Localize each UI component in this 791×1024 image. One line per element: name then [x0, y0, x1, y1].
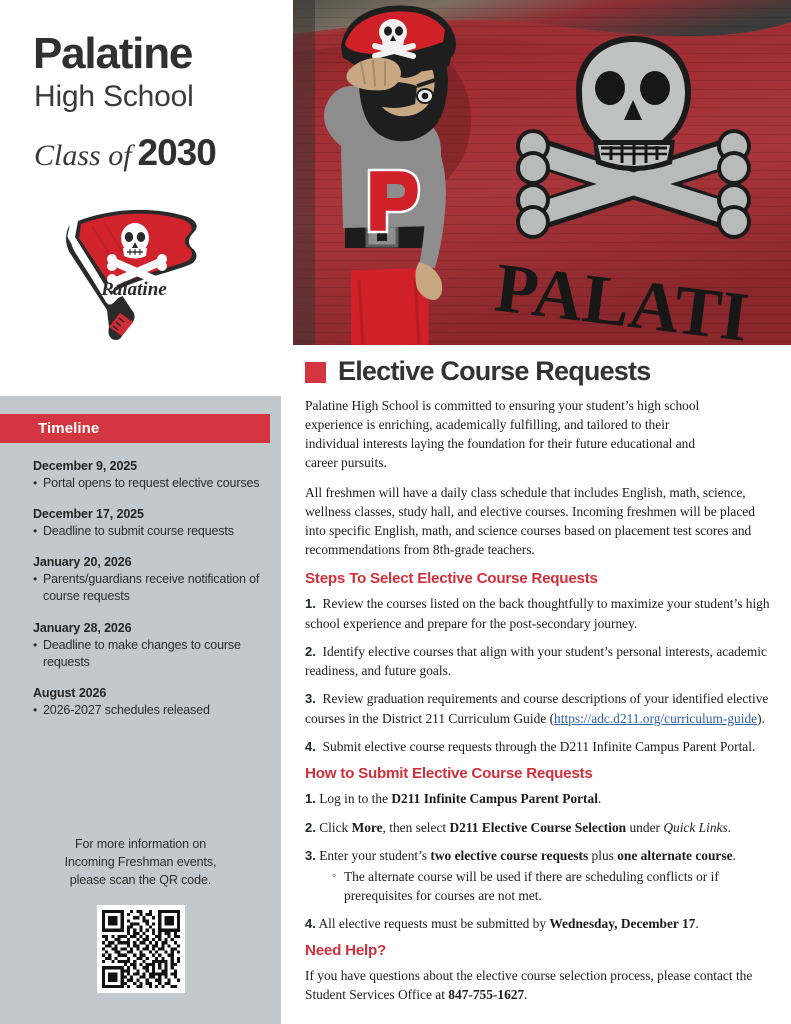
step-text-end: .: [695, 916, 698, 931]
help-phone-number: 847-755-1627: [448, 987, 524, 1002]
sublist-item: The alternate course will be used if the…: [332, 867, 775, 905]
left-column: Palatine High School Class of2030: [0, 0, 282, 1024]
step-text: Log in to the: [319, 791, 391, 806]
pirate-flag-skull-crossbones-icon: Palatine: [52, 196, 232, 356]
step-number: 2.: [305, 820, 316, 835]
timeline-bullet: Portal opens to request elective courses: [33, 475, 273, 492]
step-emphasis-deadline: Wednesday, December 17: [549, 916, 695, 931]
step-text: Review the courses listed on the back th…: [305, 596, 770, 630]
timeline-bullet-list: Parents/guardians receive notification o…: [33, 571, 273, 606]
timeline-entry: August 2026 2026-2027 schedules released: [33, 685, 273, 719]
timeline-date: December 17, 2025: [33, 506, 273, 523]
step-number: 4.: [305, 739, 316, 754]
class-of-label: Class of: [34, 139, 132, 172]
pirate-mascot-photo: PALATI: [293, 0, 791, 345]
submit-step-3: 3. Enter your student’s two elective cou…: [305, 846, 775, 865]
timeline-entry: December 9, 2025 Portal opens to request…: [33, 458, 273, 492]
skull-icon: [121, 223, 149, 259]
step-text-under: under: [626, 820, 663, 835]
step-item: 3. Review graduation requirements and co…: [305, 689, 775, 727]
qr-caption-line-3: please scan the QR code.: [0, 872, 281, 890]
intro-paragraph-2: All freshmen will have a daily class sch…: [305, 483, 775, 559]
school-subtitle: High School: [34, 82, 282, 112]
flyer-page: Palatine High School Class of2030: [0, 0, 791, 1024]
red-square-bullet-icon: [305, 362, 326, 383]
step-item: 1. Review the courses listed on the back…: [305, 594, 775, 632]
step-number: 3.: [305, 848, 316, 863]
step-text-end: .: [598, 791, 601, 806]
timeline-bullet: Deadline to make changes to course reque…: [33, 637, 273, 672]
step-text-mid: , then select: [383, 820, 450, 835]
step-emphasis-alternate: one alternate course: [617, 848, 732, 863]
timeline-header-bar: Timeline: [0, 414, 270, 443]
step-emphasis-more: More: [352, 820, 383, 835]
step-text-plus: plus: [588, 848, 617, 863]
step-emphasis-selection: D211 Elective Course Selection: [449, 820, 626, 835]
intro-paragraph-1: Palatine High School is committed to ens…: [305, 396, 775, 472]
timeline-date: August 2026: [33, 685, 273, 702]
step-text-after: ).: [757, 711, 765, 726]
submit-step-2: 2. Click More, then select D211 Elective…: [305, 818, 775, 837]
timeline-entry: January 28, 2026 Deadline to make change…: [33, 620, 273, 671]
step-text: All elective requests must be submitted …: [318, 916, 549, 931]
school-name: Palatine: [33, 32, 282, 76]
help-text: If you have questions about the elective…: [305, 968, 752, 1002]
main-title-row: Elective Course Requests: [305, 358, 775, 385]
qr-block: For more information on Incoming Freshma…: [0, 836, 281, 993]
submit-step-3-sublist: The alternate course will be used if the…: [305, 867, 775, 905]
timeline-bullet: Deadline to submit course requests: [33, 523, 273, 540]
step-item: 4. Submit elective course requests throu…: [305, 737, 775, 756]
step-text: Enter your student’s: [319, 848, 430, 863]
steps-heading: Steps To Select Elective Course Requests: [305, 570, 775, 587]
class-year: 2030: [138, 132, 216, 173]
submit-step-4: 4. All elective requests must be submitt…: [305, 914, 775, 933]
pirate-flag-logo: Palatine: [52, 196, 232, 356]
right-column: PALATI: [293, 0, 791, 1024]
step-text: Identify elective courses that align wit…: [305, 644, 767, 678]
step-number: 3.: [305, 691, 316, 706]
timeline-bullet-list: Deadline to submit course requests: [33, 523, 273, 540]
curriculum-guide-link[interactable]: https://adc.d211.org/curriculum-guide: [554, 711, 757, 726]
timeline-date: January 20, 2026: [33, 554, 273, 571]
submit-heading: How to Submit Elective Course Requests: [305, 765, 775, 782]
timeline-heading: Timeline: [38, 414, 270, 443]
timeline-entry: January 20, 2026 Parents/guardians recei…: [33, 554, 273, 605]
timeline-date: December 9, 2025: [33, 458, 273, 475]
timeline-list: December 9, 2025 Portal opens to request…: [33, 458, 273, 733]
help-text-end: .: [524, 987, 527, 1002]
masthead: Palatine High School Class of2030: [0, 0, 282, 171]
timeline-bullet-list: 2026-2027 schedules released: [33, 702, 273, 719]
step-number: 2.: [305, 644, 316, 659]
timeline-entry: December 17, 2025 Deadline to submit cou…: [33, 506, 273, 540]
step-text-end: .: [728, 820, 731, 835]
class-of-line: Class of2030: [34, 134, 282, 171]
timeline-bullet-list: Deadline to make changes to course reque…: [33, 637, 273, 672]
main-content: Elective Course Requests Palatine High S…: [305, 358, 775, 1015]
qr-code-icon[interactable]: [97, 905, 185, 993]
step-item: 2. Identify elective courses that align …: [305, 642, 775, 680]
step-text: Click: [319, 820, 351, 835]
step-emphasis: D211 Infinite Campus Parent Portal: [391, 791, 598, 806]
qr-caption-line-1: For more information on: [0, 836, 281, 854]
step-number: 1.: [305, 791, 316, 806]
step-text: Submit elective course requests through …: [323, 739, 756, 754]
help-heading: Need Help?: [305, 942, 775, 959]
page-title: Elective Course Requests: [338, 358, 650, 385]
timeline-bullet: 2026-2027 schedules released: [33, 702, 273, 719]
step-emphasis-quicklinks: Quick Links: [663, 820, 727, 835]
step-text-end: .: [733, 848, 736, 863]
qr-caption-line-2: Incoming Freshman events,: [0, 854, 281, 872]
timeline-bullet-list: Portal opens to request elective courses: [33, 475, 273, 492]
step-number: 4.: [305, 916, 316, 931]
step-emphasis-two-requests: two elective course requests: [430, 848, 588, 863]
submit-step-1: 1. Log in to the D211 Infinite Campus Pa…: [305, 789, 775, 808]
timeline-date: January 28, 2026: [33, 620, 273, 637]
help-paragraph: If you have questions about the elective…: [305, 966, 775, 1004]
timeline-bullet: Parents/guardians receive notification o…: [33, 571, 273, 606]
step-number: 1.: [305, 596, 316, 611]
logo-wordmark: Palatine: [100, 279, 167, 300]
